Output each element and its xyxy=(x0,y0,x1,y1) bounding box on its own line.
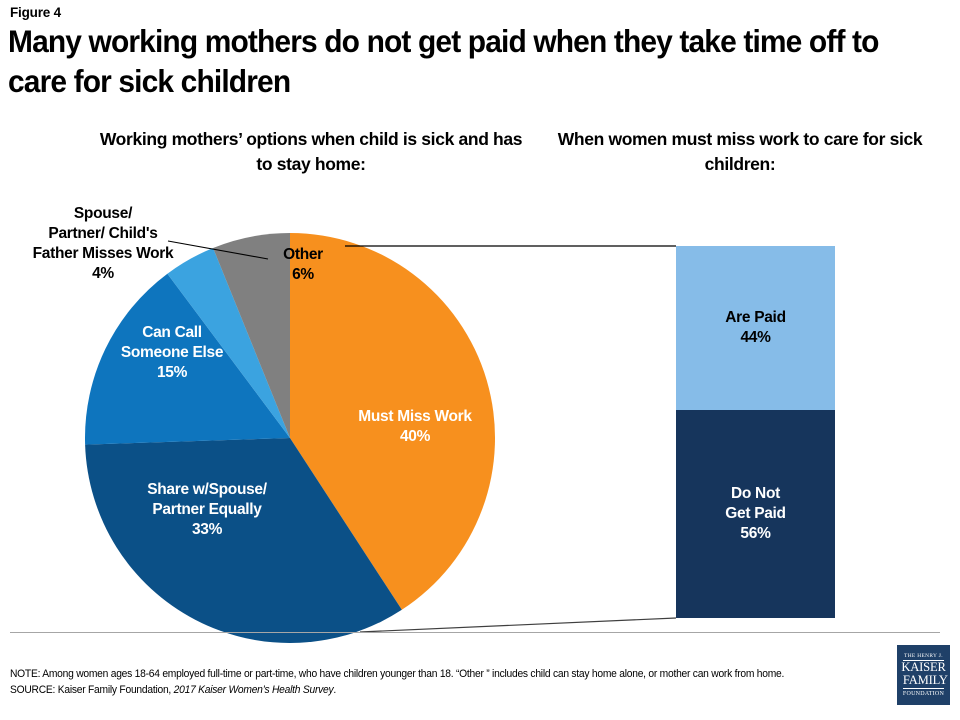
bar-label-do-not-get-paid: Do Not Get Paid 56% xyxy=(725,484,785,544)
chart-baseline xyxy=(10,632,940,633)
pie-label-other: Other 6% xyxy=(258,245,348,285)
pie-label-spouse-partner: Spouse/ Partner/ Child's Father Misses W… xyxy=(8,204,198,285)
right-panel-subtitle: When women must miss work to care for si… xyxy=(540,127,940,177)
bar-segment-are-paid: Are Paid 44% xyxy=(676,246,835,410)
figure-label: Figure 4 xyxy=(10,6,61,21)
footer-source-title: 2017 Kaiser Women’s Health Survey xyxy=(174,684,334,696)
pie-label-can-call-someone-else: Can Call Someone Else 15% xyxy=(97,323,247,383)
kff-logo: THE HENRY J. KAISER FAMILY FOUNDATION xyxy=(897,645,950,705)
bar-segment-do-not-get-paid: Do Not Get Paid 56% xyxy=(676,410,835,618)
kff-logo-line-4: FOUNDATION xyxy=(903,689,944,697)
page-title: Many working mothers do not get paid whe… xyxy=(8,22,905,101)
figure-canvas: Figure 4 Many working mothers do not get… xyxy=(0,0,960,720)
bar-label-are-paid: Are Paid 44% xyxy=(725,308,786,348)
footer-notes: NOTE: Among women ages 18-64 employed fu… xyxy=(10,666,864,699)
footer-source-prefix: SOURCE: Kaiser Family Foundation, xyxy=(10,684,174,696)
kff-logo-line-3: FAMILY xyxy=(903,674,944,689)
left-panel-subtitle: Working mothers’ options when child is s… xyxy=(96,127,526,177)
footer-source: SOURCE: Kaiser Family Foundation, 2017 K… xyxy=(10,682,864,698)
footer-source-suffix: . xyxy=(333,684,336,696)
pie-label-must-miss-work: Must Miss Work 40% xyxy=(330,407,500,447)
pie-label-share-equally: Share w/Spouse/ Partner Equally 33% xyxy=(112,480,302,540)
stacked-bar-chart: Are Paid 44% Do Not Get Paid 56% xyxy=(676,246,835,618)
footer-note: NOTE: Among women ages 18-64 employed fu… xyxy=(10,666,864,682)
